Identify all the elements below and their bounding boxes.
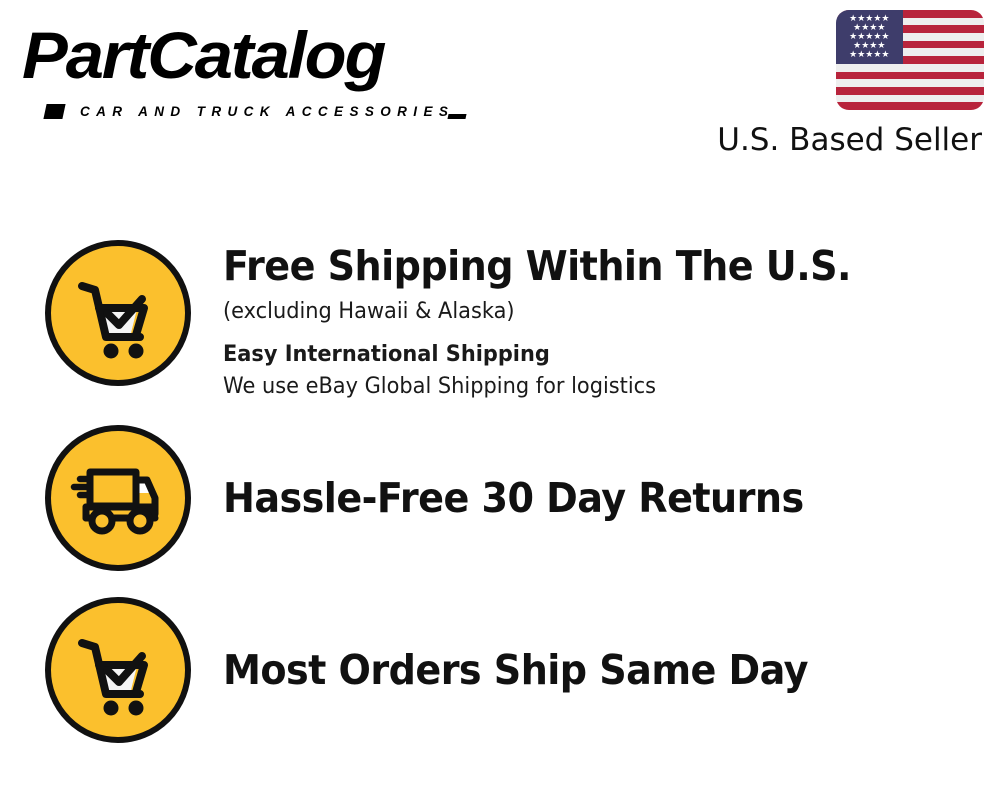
shopping-cart-check-icon [45,240,191,386]
us-flag-icon: ★★★★★ ★★★★ ★★★★★ ★★★★ ★★★★★ [836,10,984,110]
brand-tagline: CAR AND TRUCK ACCESSORIES [80,104,454,119]
feature-subtitle: We use eBay Global Shipping for logistic… [223,371,942,403]
feature-icon-wrapper [43,240,193,386]
feature-subtitle-bold: Easy International Shipping [223,339,942,371]
flag-stripe [836,87,984,95]
flag-stripe [836,72,984,80]
brand-logo[interactable]: PartCatalog CAR AND TRUCK ACCESSORIES [22,18,492,118]
flag-stripe [836,102,984,110]
feature-row: Free Shipping Within The U.S. (excluding… [0,240,1000,412]
feature-list: Free Shipping Within The U.S. (excluding… [0,240,1000,756]
feature-text: Hassle-Free 30 Day Returns [223,473,1000,523]
tagline-right-dash [447,114,466,119]
us-based-seller-badge: ★★★★★ ★★★★ ★★★★★ ★★★★ ★★★★★ U.S. Based S… [714,10,984,159]
feature-row: Hassle-Free 30 Day Returns [0,412,1000,584]
feature-icon-wrapper [43,425,193,571]
delivery-truck-icon [45,425,191,571]
tagline-left-dash [43,104,65,119]
feature-row: Most Orders Ship Same Day [0,584,1000,756]
feature-text: Most Orders Ship Same Day [223,645,1000,695]
feature-icon-wrapper [43,597,193,743]
feature-text: Free Shipping Within The U.S. (excluding… [223,241,1000,403]
shopping-cart-check-icon [45,597,191,743]
feature-title: Hassle-Free 30 Day Returns [223,473,927,523]
flag-stripe [836,79,984,87]
feature-title: Most Orders Ship Same Day [223,645,927,695]
feature-title: Free Shipping Within The U.S. [223,241,927,291]
feature-subtitle: (excluding Hawaii & Alaska) [223,296,942,328]
brand-wordmark: PartCatalog [22,14,384,96]
flag-stripe [836,95,984,103]
flag-stripe [836,64,984,72]
flag-star-row: ★★★★★ [836,50,903,59]
seller-label: U.S. Based Seller [714,121,984,159]
page-header: PartCatalog CAR AND TRUCK ACCESSORIES [0,0,1000,175]
flag-canton: ★★★★★ ★★★★ ★★★★★ ★★★★ ★★★★★ [836,10,903,64]
